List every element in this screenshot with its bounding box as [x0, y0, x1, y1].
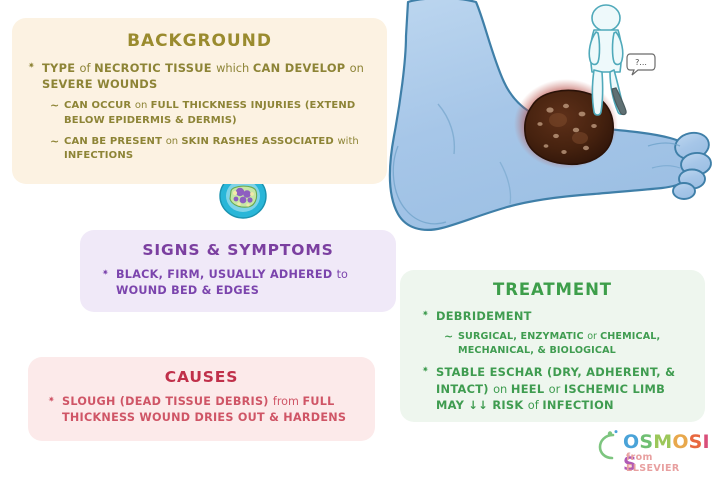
panel-causes-body: SLOUGH (DEAD TISSUE DEBRIS) from FULL TH…	[28, 386, 375, 426]
bullet-text-lower: of	[80, 61, 95, 75]
infographic-canvas: ?... BACKGROUND TYPE of NECROTIC TISSUE …	[0, 0, 720, 480]
bullet-text-caps: INFECTION	[542, 398, 613, 412]
bullet-item: SURGICAL, ENZYMATIC or CHEMICAL, MECHANI…	[444, 330, 695, 357]
bullet-text-lower: on	[135, 100, 151, 111]
bullet-text-caps: HEEL	[511, 382, 549, 396]
bullet-text-lower: on	[166, 136, 182, 147]
bullet-text-caps: CAN BE PRESENT	[64, 136, 166, 147]
bullet-item: DEBRIDEMENT	[422, 308, 695, 324]
panel-background-bullet-list: TYPE of NECROTIC TISSUE which CAN DEVELO…	[28, 60, 375, 163]
panel-causes-title: CAUSES	[28, 357, 375, 386]
bullet-text-lower: on	[350, 61, 364, 75]
bullet-text-caps: TYPE	[42, 61, 80, 75]
panel-background-title: BACKGROUND	[12, 18, 387, 51]
bullet-text-caps: DEBRIDEMENT	[436, 309, 532, 323]
bullet-text-lower: from	[273, 395, 303, 408]
bullet-item: STABLE ESCHAR (DRY, ADHERENT, & INTACT) …	[422, 364, 695, 413]
bullet-text-caps: BLACK, FIRM, USUALLY ADHERED	[116, 268, 337, 281]
panel-treatment: TREATMENT DEBRIDEMENT SURGICAL, ENZYMATI…	[400, 270, 705, 422]
bullet-text-caps: CAN OCCUR	[64, 100, 135, 111]
bullet-text-lower: or	[549, 382, 564, 396]
panel-background-body: TYPE of NECROTIC TISSUE which CAN DEVELO…	[12, 51, 387, 163]
osmosis-logo[interactable]: OSMOSIS from ELSEVIER	[596, 428, 710, 472]
bullet-text-lower: on	[493, 382, 511, 396]
osmosis-tagline: from ELSEVIER	[626, 452, 710, 474]
panel-background: BACKGROUND TYPE of NECROTIC TISSUE which…	[12, 18, 387, 184]
bullet-text-lower: with	[337, 136, 358, 147]
bullet-text-lower: which	[216, 61, 253, 75]
person-covering-face-illustration: ?...	[566, 2, 658, 120]
bullet-text-caps: INFECTIONS	[64, 150, 133, 161]
bullet-text-caps: SKIN RASHES ASSOCIATED	[181, 136, 337, 147]
panel-signs-title: SIGNS & SYMPTOMS	[80, 230, 396, 259]
bullet-item: CAN BE PRESENT on SKIN RASHES ASSOCIATED…	[50, 135, 375, 163]
bullet-text-caps: WOUND BED & EDGES	[116, 284, 259, 297]
panel-signs-and-symptoms: SIGNS & SYMPTOMS BLACK, FIRM, USUALLY AD…	[80, 230, 396, 312]
bullet-text-caps: SURGICAL, ENZYMATIC	[458, 331, 587, 342]
panel-signs-body: BLACK, FIRM, USUALLY ADHERED to WOUND BE…	[80, 259, 396, 299]
panel-treatment-body: DEBRIDEMENT SURGICAL, ENZYMATIC or CHEMI…	[400, 299, 705, 413]
panel-causes: CAUSES SLOUGH (DEAD TISSUE DEBRIS) from …	[28, 357, 375, 441]
bullet-text-caps: SLOUGH (DEAD TISSUE DEBRIS)	[62, 395, 273, 408]
bullet-text-caps: NECROTIC TISSUE	[94, 61, 216, 75]
bullet-text-lower: or	[587, 331, 600, 342]
bullet-text-lower: of	[528, 398, 543, 412]
panel-causes-bullet-list: SLOUGH (DEAD TISSUE DEBRIS) from FULL TH…	[48, 394, 365, 426]
panel-signs-bullet-list: BLACK, FIRM, USUALLY ADHERED to WOUND BE…	[102, 267, 384, 299]
bullet-text-caps: CAN DEVELOP	[253, 61, 350, 75]
bullet-item: TYPE of NECROTIC TISSUE which CAN DEVELO…	[28, 60, 375, 92]
panel-treatment-title: TREATMENT	[400, 270, 705, 299]
person-speech-text: ?...	[635, 58, 647, 67]
bullet-item: BLACK, FIRM, USUALLY ADHERED to WOUND BE…	[102, 267, 384, 299]
bullet-text-caps: SEVERE WOUNDS	[42, 77, 158, 91]
bullet-item: SLOUGH (DEAD TISSUE DEBRIS) from FULL TH…	[48, 394, 365, 426]
panel-treatment-bullet-list: DEBRIDEMENT SURGICAL, ENZYMATIC or CHEMI…	[422, 308, 695, 413]
bullet-item: CAN OCCUR on FULL THICKNESS INJURIES (EX…	[50, 99, 375, 127]
foot-with-eschar-wound-illustration	[380, 0, 720, 266]
bullet-text-lower: to	[337, 268, 348, 281]
